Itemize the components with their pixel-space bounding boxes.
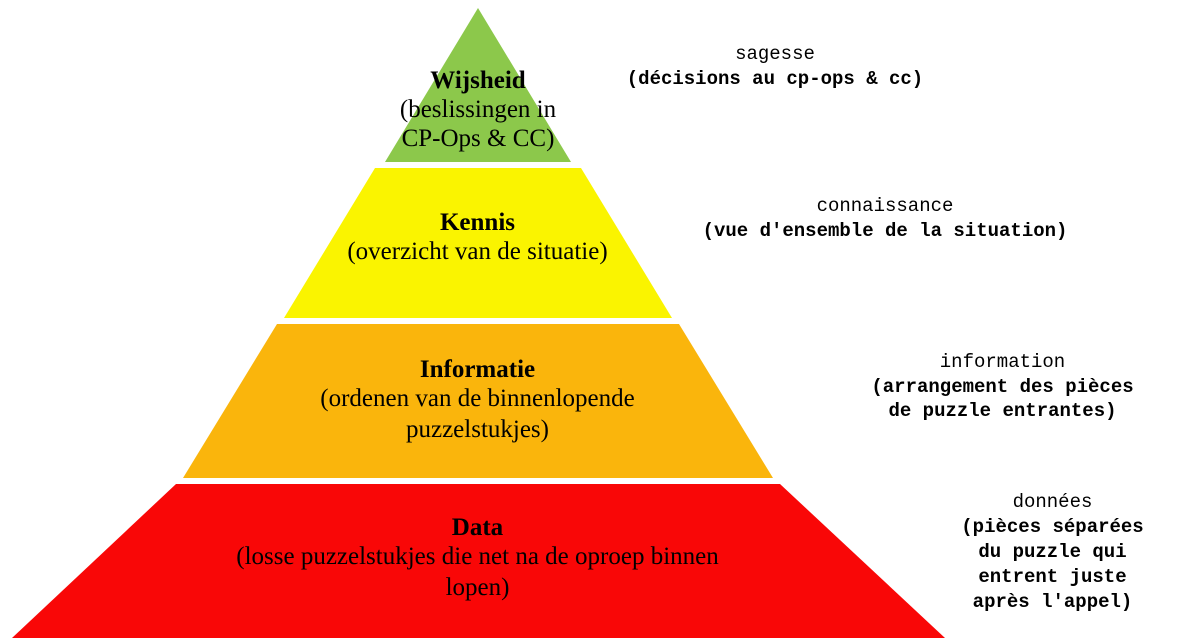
- annotation-subtitle-donnees-line1: (pièces séparées: [905, 515, 1200, 540]
- annotation-title-donnees: données: [905, 490, 1200, 515]
- annotation-subtitle-information-line1: (arrangement des pièces: [815, 375, 1190, 400]
- annotation-sagesse: sagesse (décisions au cp-ops & cc): [565, 42, 985, 91]
- tier-title-data: Data: [120, 513, 835, 542]
- diagram-canvas: Wijsheid (beslissingen in CP-Ops & CC) K…: [0, 0, 1200, 643]
- tier-subtitle-data-line1: (losse puzzelstukjes die net na de oproe…: [120, 542, 835, 573]
- annotation-title-connaissance: connaissance: [640, 194, 1130, 219]
- annotation-title-information: information: [815, 350, 1190, 375]
- tier-subtitle-informatie-line2: puzzelstukjes): [205, 415, 750, 446]
- annotation-subtitle-donnees-line3: entrent juste: [905, 565, 1200, 590]
- annotation-subtitle-donnees-line2: du puzzle qui: [905, 540, 1200, 565]
- annotation-title-sagesse: sagesse: [565, 42, 985, 67]
- tier-subtitle-wijsheid-line1: (beslissingen in: [278, 95, 678, 124]
- annotation-connaissance: connaissance (vue d'ensemble de la situa…: [640, 194, 1130, 243]
- annotation-subtitle-connaissance-line1: (vue d'ensemble de la situation): [640, 219, 1130, 244]
- annotation-subtitle-information-line2: de puzzle entrantes): [815, 399, 1190, 424]
- annotation-subtitle-sagesse-line1: (décisions au cp-ops & cc): [565, 67, 985, 92]
- tier-subtitle-wijsheid-line2: CP-Ops & CC): [278, 124, 678, 153]
- tier-label-data: Data (losse puzzelstukjes die net na de …: [120, 513, 835, 603]
- annotation-information: information (arrangement des pièces de p…: [815, 350, 1190, 424]
- tier-title-informatie: Informatie: [205, 355, 750, 384]
- tier-label-informatie: Informatie (ordenen van de binnenlopende…: [205, 355, 750, 445]
- tier-subtitle-data-line2: lopen): [120, 573, 835, 604]
- annotation-subtitle-donnees-line4: après l'appel): [905, 590, 1200, 615]
- tier-subtitle-informatie-line1: (ordenen van de binnenlopende: [205, 384, 750, 415]
- annotation-donnees: données (pièces séparées du puzzle qui e…: [905, 490, 1200, 616]
